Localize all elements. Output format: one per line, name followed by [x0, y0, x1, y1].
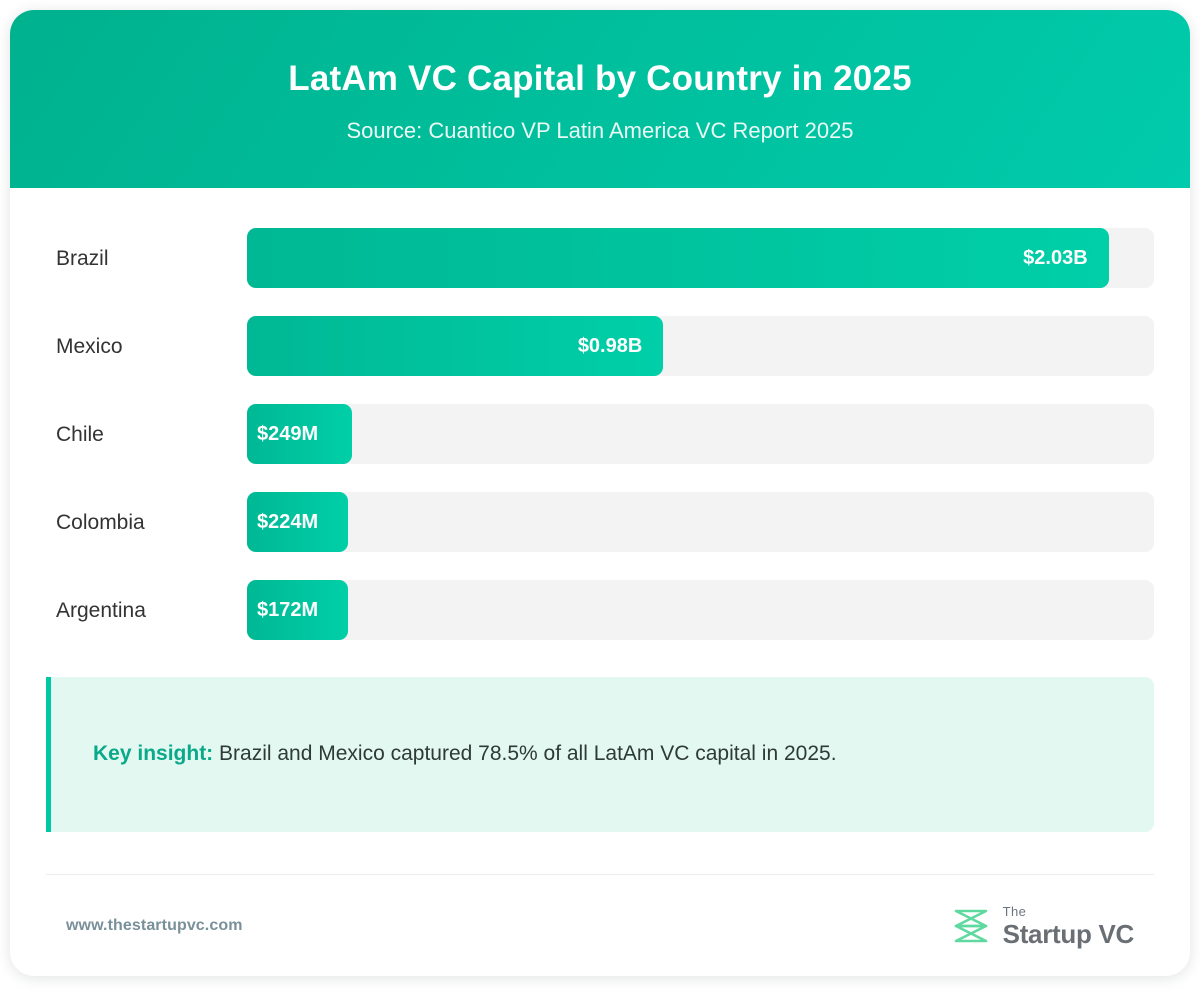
brand-logo[interactable]: The Startup VC: [950, 905, 1134, 947]
bar-track: $2.03B: [247, 228, 1154, 288]
bar-value-label: $0.98B: [578, 335, 643, 358]
chart-row: Mexico $0.98B: [46, 316, 1154, 376]
page-subtitle: Source: Cuantico VP Latin America VC Rep…: [346, 118, 853, 144]
bar-value-label: $249M: [257, 423, 318, 446]
hourglass-logo-icon: [950, 905, 992, 947]
key-insight-body: Brazil and Mexico captured 78.5% of all …: [213, 742, 836, 765]
footer-website-url[interactable]: www.thestartupvc.com: [66, 917, 243, 935]
bar-category-label: Mexico: [46, 336, 247, 357]
bar-track: $0.98B: [247, 316, 1154, 376]
bar-category-label: Colombia: [46, 512, 247, 533]
key-insight-label: Key insight:: [93, 742, 213, 765]
bar-value-label: $224M: [257, 511, 318, 534]
bar-category-label: Chile: [46, 424, 247, 445]
header-banner: LatAm VC Capital by Country in 2025 Sour…: [10, 10, 1190, 188]
chart-row: Colombia $224M: [46, 492, 1154, 552]
horizontal-bar-chart: Brazil $2.03B Mexico $0.98B Chile: [46, 228, 1154, 640]
chart-row: Chile $249M: [46, 404, 1154, 464]
bar-mexico[interactable]: $0.98B: [247, 316, 663, 376]
footer-bar: www.thestartupvc.com The Startup VC: [46, 874, 1154, 976]
bar-chile[interactable]: $249M: [247, 404, 352, 464]
chart-row: Argentina $172M: [46, 580, 1154, 640]
bar-colombia[interactable]: $224M: [247, 492, 348, 552]
logo-name-text: Startup VC: [1003, 921, 1134, 947]
infographic-card: LatAm VC Capital by Country in 2025 Sour…: [10, 10, 1190, 976]
bar-value-label: $172M: [257, 599, 318, 622]
bar-track: $224M: [247, 492, 1154, 552]
logo-the-text: The: [1003, 905, 1134, 918]
page-title: LatAm VC Capital by Country in 2025: [288, 60, 912, 99]
bar-brazil[interactable]: $2.03B: [247, 228, 1109, 288]
bar-value-label: $2.03B: [1023, 247, 1088, 270]
key-insight-text: Key insight: Brazil and Mexico captured …: [93, 740, 837, 768]
card-body: Brazil $2.03B Mexico $0.98B Chile: [10, 188, 1190, 874]
logo-wordmark: The Startup VC: [1003, 905, 1134, 947]
bar-track: $249M: [247, 404, 1154, 464]
bar-category-label: Argentina: [46, 600, 247, 621]
bar-argentina[interactable]: $172M: [247, 580, 348, 640]
bar-track: $172M: [247, 580, 1154, 640]
key-insight-callout: Key insight: Brazil and Mexico captured …: [46, 677, 1154, 832]
chart-row: Brazil $2.03B: [46, 228, 1154, 288]
bar-category-label: Brazil: [46, 248, 247, 269]
